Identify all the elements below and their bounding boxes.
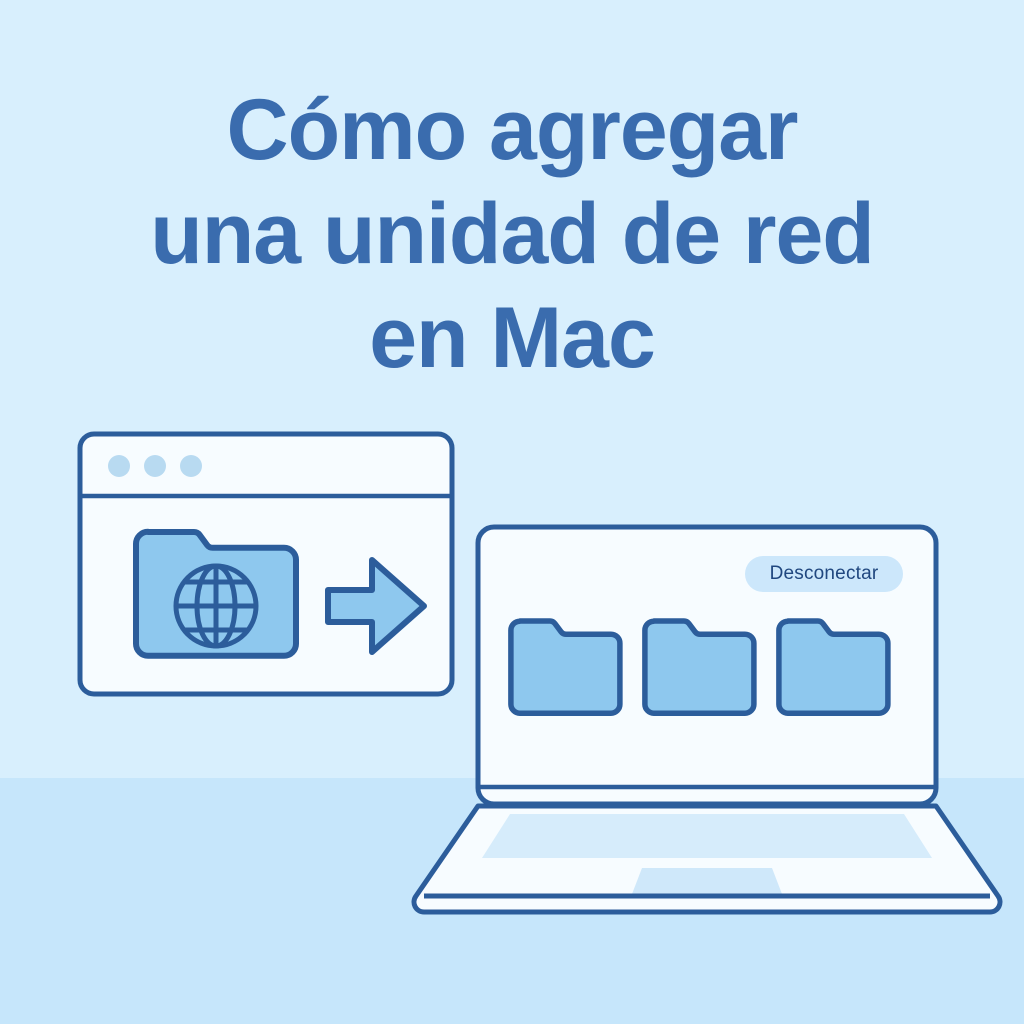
disconnect-button[interactable] — [745, 556, 903, 592]
folder-1[interactable] — [511, 621, 620, 713]
laptop — [398, 512, 1018, 916]
window-dot-3-icon[interactable] — [180, 455, 202, 477]
globe-icon — [176, 566, 256, 646]
window-dot-2-icon[interactable] — [144, 455, 166, 477]
trackpad-area[interactable] — [632, 868, 782, 894]
poster-canvas: Cómo agregar una unidad de red en Mac — [0, 0, 1024, 1024]
window-dot-1-icon[interactable] — [108, 455, 130, 477]
page-title: Cómo agregar una unidad de red en Mac — [0, 78, 1024, 390]
folder-3[interactable] — [779, 621, 888, 713]
keyboard-area — [482, 814, 932, 858]
folder-2[interactable] — [645, 621, 754, 713]
